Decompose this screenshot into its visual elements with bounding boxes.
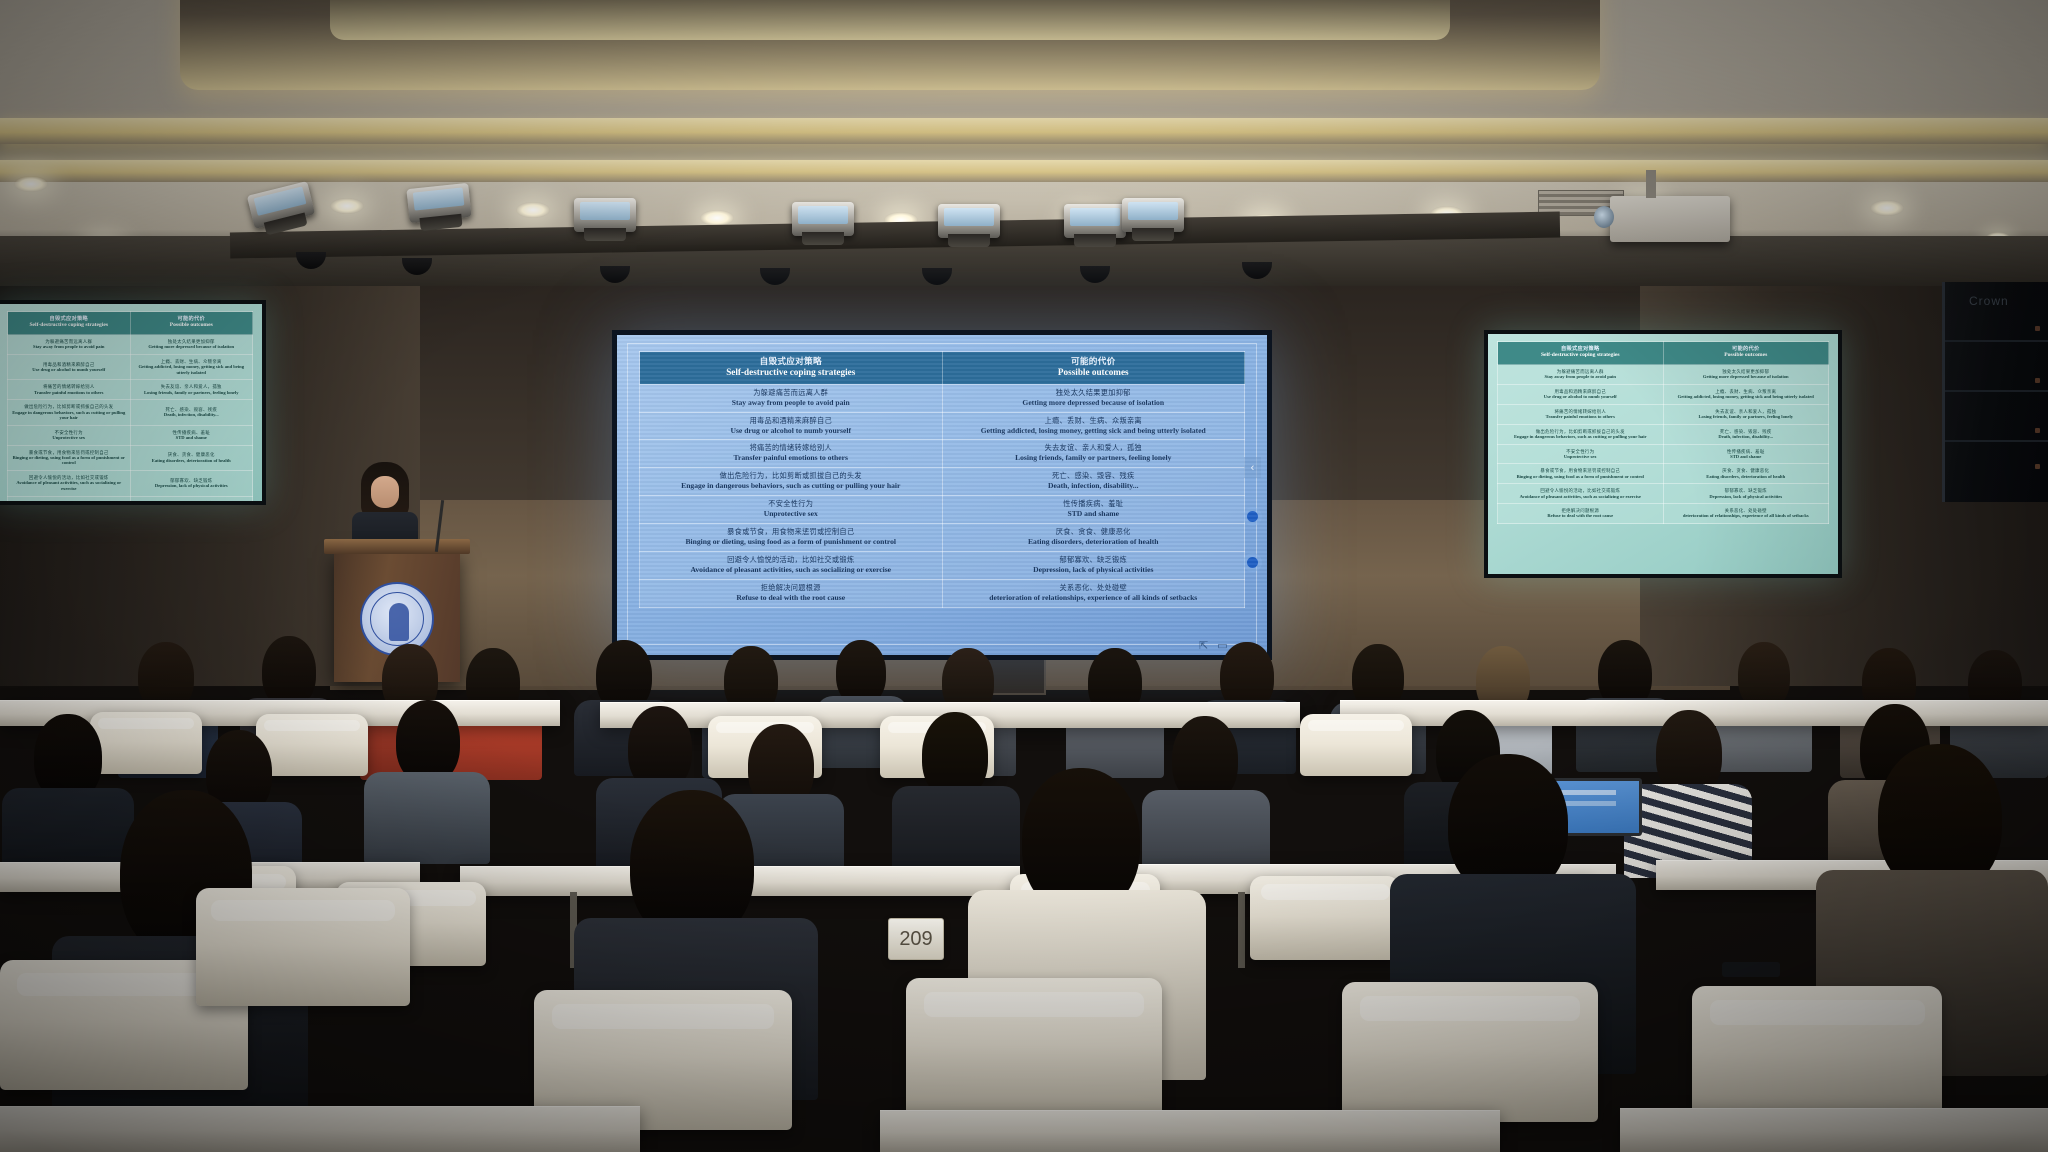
- spotlight-lens: [798, 206, 848, 224]
- speaker-seam: [1945, 340, 2048, 342]
- header-en: Self-destructive coping strategies: [1500, 352, 1661, 359]
- audience-torso: [364, 772, 490, 864]
- side-left-header-right: 可能的代价 Possible outcomes: [130, 312, 253, 335]
- ceiling-projector: [1610, 196, 1730, 242]
- cell-en: Binging or dieting, using food as a form…: [643, 537, 939, 547]
- auditorium-chair[interactable]: [196, 888, 410, 1006]
- cell-en: Death, infection, disability...: [946, 481, 1242, 491]
- side-left-slide-body: 为躲避痛苦而远离人群Stay away from people to avoid…: [8, 335, 253, 501]
- collapse-panel-chevron-icon[interactable]: ‹: [1244, 457, 1261, 478]
- table-row: 回避令人愉悦的活动，比如社交或锻炼Avoidance of pleasant a…: [8, 471, 253, 496]
- cell-en: Refuse to deal with the root cause: [643, 593, 939, 603]
- cell-cn: 将痛苦的情绪转嫁给别人: [643, 444, 939, 453]
- cell-outcome: 独处太久结果更加抑郁Getting more depressed because…: [942, 384, 1245, 412]
- desk-row-front: [0, 1106, 640, 1152]
- auditorium-chair[interactable]: [256, 714, 368, 776]
- cell-strategy: 不安全性行为Unprotective sex: [640, 496, 943, 524]
- table-row: 将痛苦的情绪转嫁给别人Transfer painful emotions to …: [8, 380, 253, 400]
- line-array-speaker: Crown: [1942, 282, 2048, 502]
- projector-lens: [1594, 206, 1614, 228]
- stage-spotlight: [1064, 204, 1126, 238]
- table-row: 用毒品和酒精来麻醉自己Use drug or alcohol to numb y…: [8, 354, 253, 379]
- table-row: 用毒品和酒精来麻醉自己Use drug or alcohol to numb y…: [640, 412, 1245, 440]
- cell-en: Use drug or alcohol to numb yourself: [643, 426, 939, 436]
- cell-cn: 死亡、感染、毁容、残疾: [946, 472, 1242, 481]
- cell-cn: 独处太久结果更加抑郁: [946, 389, 1242, 398]
- speaker-brand-label: Crown: [1969, 294, 2009, 308]
- header-en: Possible outcomes: [1666, 352, 1827, 359]
- cell-outcome: 上瘾、丢财、生病、众叛亲离Getting addicted, losing mo…: [942, 412, 1245, 440]
- cell-en: Losing friends, family or partners, feel…: [946, 453, 1242, 463]
- table-row: 做出危险行为，比如剪断或抓拔自己的头发Engage in dangerous b…: [1498, 424, 1829, 444]
- table-row: 不安全性行为Unprotective sex性传播疾病、羞耻STD and sh…: [1498, 444, 1829, 464]
- slide-progress-dot[interactable]: [1247, 557, 1258, 568]
- ceiling-downlight: [1870, 200, 1904, 216]
- ceiling-downlight: [330, 198, 364, 214]
- projector-mount: [1646, 170, 1656, 198]
- spotlight-lens: [1128, 202, 1178, 220]
- table-row: 暴食或节食，用食物来惩罚或控制自己Binging or dieting, usi…: [1498, 464, 1829, 484]
- table-row: 为躲避痛苦而远离人群Stay away from people to avoid…: [1498, 365, 1829, 385]
- stage-spotlight: [792, 202, 854, 236]
- cell-en: Eating disorders, deterioration of healt…: [946, 537, 1242, 547]
- share-icon[interactable]: ⇱: [1199, 639, 1208, 652]
- cell-cn: 拒绝解决问题根源: [643, 584, 939, 593]
- cell-en: deterioration of relationships, experien…: [946, 593, 1242, 603]
- cell-cn: 上瘾、丢财、生病、众叛亲离: [946, 417, 1242, 426]
- desk-leg: [1238, 892, 1245, 968]
- cell-en: Stay away from people to avoid pain: [643, 398, 939, 408]
- projected-slide: 自毁式应对策略 Self-destructive coping strategi…: [617, 335, 1267, 655]
- table-row: 回避令人愉悦的活动，比如社交或锻炼Avoidance of pleasant a…: [1498, 484, 1829, 504]
- cove-light-band-1: [0, 118, 2048, 144]
- header-en: Self-destructive coping strategies: [642, 367, 940, 379]
- spotlight-lens: [944, 208, 994, 226]
- speaker-indicator-led: [2035, 378, 2040, 383]
- table-row: 暴食或节食，用食物来惩罚或控制自己Binging or dieting, usi…: [640, 523, 1245, 551]
- slide-progress-dot[interactable]: [1247, 511, 1258, 522]
- side-right-slide-body: 为躲避痛苦而远离人群Stay away from people to avoid…: [1498, 365, 1829, 524]
- cell-outcome: 性传播疾病、羞耻STD and shame: [942, 496, 1245, 524]
- auditorium-chair[interactable]: [90, 712, 202, 774]
- spotlight-lens: [580, 202, 630, 220]
- right-side-slide-table: 自毁式应对策略 Self-destructive coping strategi…: [1497, 341, 1829, 524]
- ceiling-downlight: [14, 176, 48, 192]
- left-side-slide-table: 自毁式应对策略 Self-destructive coping strategi…: [7, 311, 253, 501]
- ceiling-cove-inner: [330, 0, 1450, 40]
- desk-number-card: 209: [888, 918, 944, 960]
- cell-en: Depression, lack of physical activities: [946, 565, 1242, 575]
- left-side-display: 自毁式应对策略 Self-destructive coping strategi…: [0, 300, 266, 505]
- cell-cn: 暴食或节食，用食物来惩罚或控制自己: [643, 528, 939, 537]
- desk-row-front: [880, 1110, 1500, 1152]
- table-row: 拒绝解决问题根源Refuse to deal with the root cau…: [640, 579, 1245, 607]
- lecture-hall-photo: Crown 自毁式应对策略 Self-destructive coping st…: [0, 0, 2048, 1152]
- spotlight-lens: [1070, 208, 1120, 226]
- ceiling-downlight: [516, 202, 550, 218]
- cell-outcome: 厌食、贪食、健康恶化Eating disorders, deterioratio…: [942, 523, 1245, 551]
- main-projection-screen: 自毁式应对策略 Self-destructive coping strategi…: [612, 330, 1272, 660]
- slide-header-outcomes: 可能的代价 Possible outcomes: [942, 352, 1245, 385]
- cell-cn: 不安全性行为: [643, 500, 939, 509]
- auditorium-chair[interactable]: [1300, 714, 1412, 776]
- speaker-indicator-led: [2035, 428, 2040, 433]
- table-row: 不安全性行为Unprotective sex 性传播疾病、羞耻STD and s…: [640, 496, 1245, 524]
- cell-strategy: 为躲避痛苦而远离人群Stay away from people to avoid…: [640, 384, 943, 412]
- header-en: Possible outcomes: [945, 367, 1243, 379]
- left-side-display-content: 自毁式应对策略 Self-destructive coping strategi…: [0, 304, 262, 501]
- table-row: 暴食或节食，用食物来惩罚或控制自己Binging or dieting, usi…: [8, 445, 253, 470]
- table-row: 将痛苦的情绪转嫁给别人Transfer painful emotions to …: [640, 440, 1245, 468]
- cell-strategy: 用毒品和酒精来麻醉自己Use drug or alcohol to numb y…: [640, 412, 943, 440]
- table-row: 做出危险行为，比如剪断或抓拔自己的头发Engage in dangerous b…: [640, 468, 1245, 496]
- cell-outcome: 关系恶化、处处碰壁deterioration of relationships,…: [942, 579, 1245, 607]
- cell-cn: 关系恶化、处处碰壁: [946, 584, 1242, 593]
- speaker-indicator-led: [2035, 464, 2040, 469]
- slide-header-strategies: 自毁式应对策略 Self-destructive coping strategi…: [640, 352, 943, 385]
- smartphone-on-desk[interactable]: [1722, 962, 1780, 977]
- cell-strategy: 暴食或节食，用食物来惩罚或控制自己Binging or dieting, usi…: [640, 523, 943, 551]
- right-side-display-content: 自毁式应对策略 Self-destructive coping strategi…: [1488, 334, 1838, 574]
- header-cn: 自毁式应对策略: [642, 356, 940, 367]
- cell-outcome: 失去友谊、亲人和爱人，孤独Losing friends, family or p…: [942, 440, 1245, 468]
- table-row: 为躲避痛苦而远离人群Stay away from people to avoid…: [640, 384, 1245, 412]
- slide-table-body: 为躲避痛苦而远离人群Stay away from people to avoid…: [640, 384, 1245, 607]
- table-row: 拒绝解决问题根源Refuse to deal with the root cau…: [1498, 504, 1829, 524]
- presenter-face: [371, 476, 399, 508]
- spotlight-lens: [413, 187, 465, 210]
- desk-row-front: [1620, 1108, 2048, 1152]
- speaker-seam: [1945, 390, 2048, 392]
- lectern-top: [324, 539, 470, 554]
- stage-spotlight: [406, 183, 471, 223]
- speaker-indicator-led: [2035, 326, 2040, 331]
- auditorium-chair[interactable]: [1250, 876, 1400, 960]
- cell-cn: 失去友谊、亲人和爱人，孤独: [946, 444, 1242, 453]
- cell-outcome: 死亡、感染、毁容、残疾Death, infection, disability.…: [942, 468, 1245, 496]
- cell-cn: 做出危险行为，比如剪断或抓拔自己的头发: [643, 472, 939, 481]
- stage-spotlight: [938, 204, 1000, 238]
- auditorium-chair[interactable]: [906, 978, 1162, 1118]
- table-row: 做出危险行为，比如剪断或抓拔自己的头发Engage in dangerous b…: [8, 400, 253, 425]
- cell-en: Avoidance of pleasant activities, such a…: [643, 565, 939, 575]
- cell-strategy: 做出危险行为，比如剪断或抓拔自己的头发Engage in dangerous b…: [640, 468, 943, 496]
- cell-en: STD and shame: [946, 509, 1242, 519]
- cell-en: Unprotective sex: [643, 509, 939, 519]
- side-right-header-left: 自毁式应对策略 Self-destructive coping strategi…: [1498, 342, 1664, 365]
- cell-strategy: 拒绝解决问题根源Refuse to deal with the root cau…: [640, 579, 943, 607]
- header-cn: 可能的代价: [945, 356, 1243, 367]
- cell-outcome: 郁郁寡欢、缺乏锻炼Depression, lack of physical ac…: [942, 551, 1245, 579]
- slide-table: 自毁式应对策略 Self-destructive coping strategi…: [639, 351, 1245, 608]
- stage-spotlight: [574, 198, 636, 232]
- cell-cn: 厌食、贪食、健康恶化: [946, 528, 1242, 537]
- cell-cn: 性传播疾病、羞耻: [946, 500, 1242, 509]
- cell-strategy: 将痛苦的情绪转嫁给别人Transfer painful emotions to …: [640, 440, 943, 468]
- cell-cn: 用毒品和酒精来麻醉自己: [643, 417, 939, 426]
- header-en: Possible outcomes: [133, 322, 251, 329]
- side-right-header-right: 可能的代价 Possible outcomes: [1663, 342, 1829, 365]
- auditorium-chair[interactable]: [1342, 982, 1598, 1122]
- cell-en: Transfer painful emotions to others: [643, 453, 939, 463]
- cell-cn: 为躲避痛苦而远离人群: [643, 389, 939, 398]
- cell-en: Getting more depressed because of isolat…: [946, 398, 1242, 408]
- cell-strategy: 回避令人愉悦的活动，比如社交或锻炼Avoidance of pleasant a…: [640, 551, 943, 579]
- cell-cn: 回避令人愉悦的活动，比如社交或锻炼: [643, 556, 939, 565]
- cell-en: Getting addicted, losing money, getting …: [946, 426, 1242, 436]
- right-side-display: 自毁式应对策略 Self-destructive coping strategi…: [1484, 330, 1842, 578]
- stage-spotlight: [1122, 198, 1184, 232]
- table-row: 将痛苦的情绪转嫁给别人Transfer painful emotions to …: [1498, 404, 1829, 424]
- auditorium-chair[interactable]: [1692, 986, 1942, 1124]
- cove-light-band-2: [0, 160, 2048, 182]
- speaker-seam: [1945, 440, 2048, 442]
- side-left-header-left: 自毁式应对策略 Self-destructive coping strategi…: [8, 312, 131, 335]
- header-en: Self-destructive coping strategies: [10, 322, 128, 329]
- table-row: 拒绝解决问题根源Refuse to deal with the root cau…: [8, 496, 253, 501]
- table-row: 为躲避痛苦而远离人群Stay away from people to avoid…: [8, 335, 253, 355]
- university-emblem: [360, 582, 434, 656]
- table-row: 用毒品和酒精来麻醉自己Use drug or alcohol to numb y…: [1498, 384, 1829, 404]
- cell-cn: 郁郁寡欢、缺乏锻炼: [946, 556, 1242, 565]
- menu-icon[interactable]: ▭: [1217, 639, 1227, 652]
- table-row: 回避令人愉悦的活动，比如社交或锻炼Avoidance of pleasant a…: [640, 551, 1245, 579]
- cell-en: Engage in dangerous behaviors, such as c…: [643, 481, 939, 491]
- table-row: 不安全性行为Unprotective sex性传播疾病、羞耻STD and sh…: [8, 425, 253, 445]
